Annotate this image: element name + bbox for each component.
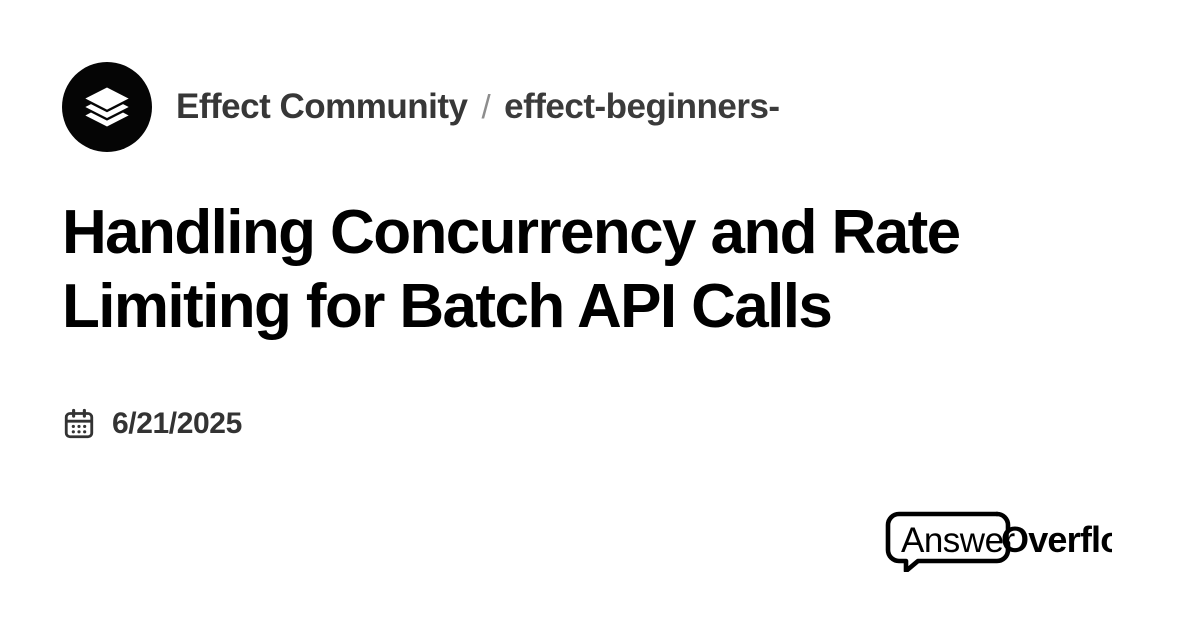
answer-overflow-logo[interactable]: Answer Overflow — [884, 510, 1112, 572]
brand-answer: Answer — [901, 521, 1016, 560]
breadcrumb-text: Effect Community / effect-beginners- — [176, 87, 780, 127]
og-card: Effect Community / effect-beginners- Han… — [0, 0, 1200, 630]
server-name[interactable]: Effect Community — [176, 87, 467, 127]
post-date: 6/21/2025 — [112, 407, 242, 441]
breadcrumb-separator: / — [481, 88, 490, 126]
brand-overflow: Overflow — [1001, 519, 1112, 560]
server-avatar — [62, 62, 152, 152]
date-row: 6/21/2025 — [62, 345, 1138, 441]
breadcrumb: Effect Community / effect-beginners- — [62, 62, 1138, 152]
calendar-icon — [62, 407, 96, 441]
channel-name[interactable]: effect-beginners- — [504, 87, 779, 127]
layers-stack-icon — [81, 81, 133, 133]
page-title: Handling Concurrency and Rate Limiting f… — [62, 152, 982, 345]
